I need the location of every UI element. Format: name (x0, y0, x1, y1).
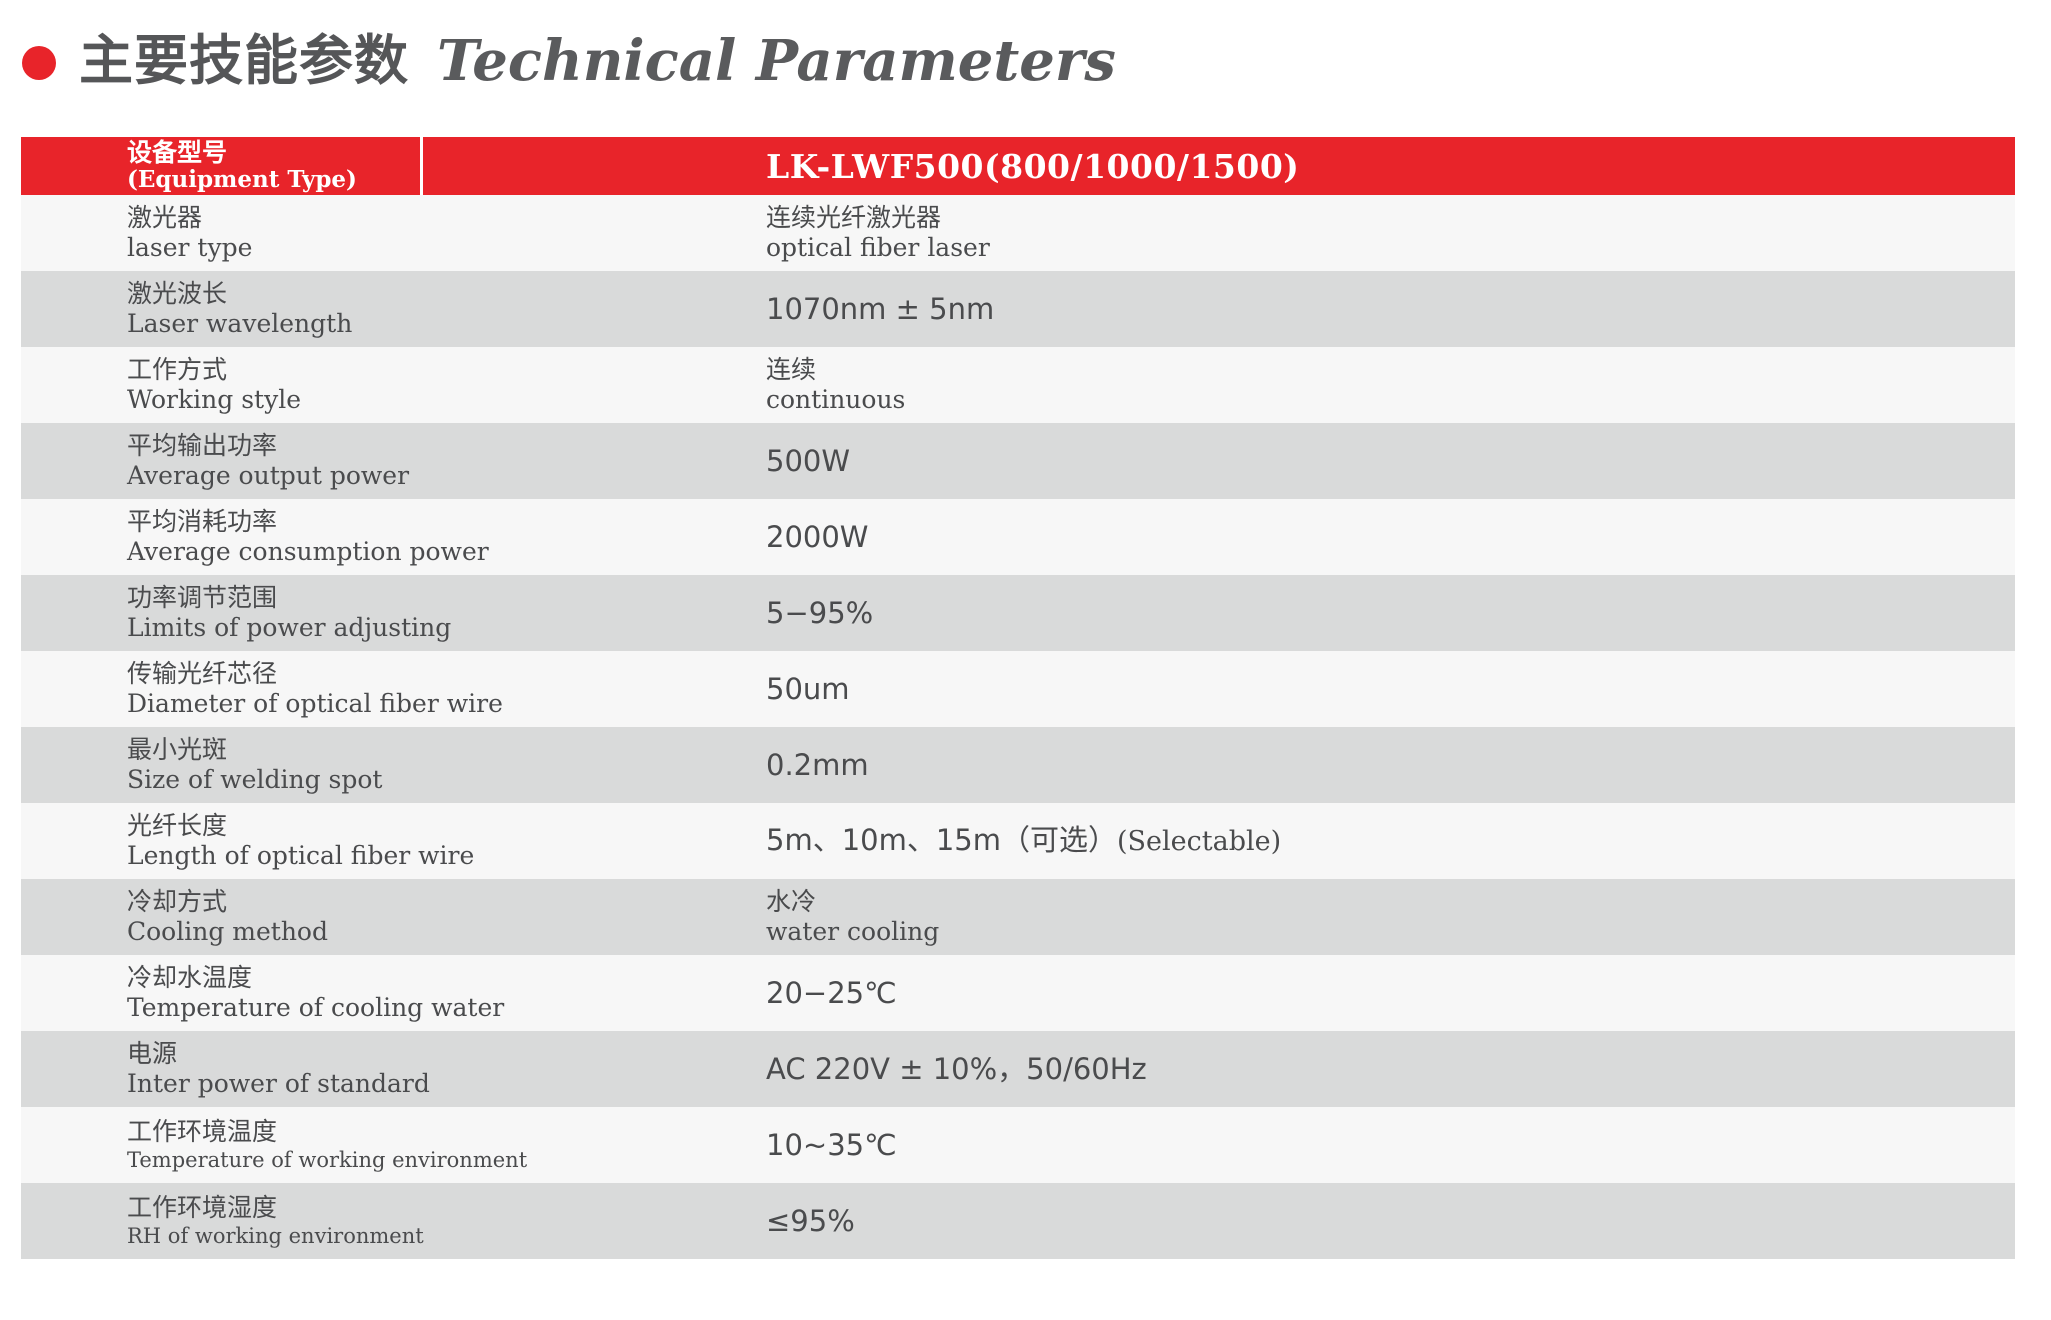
row-value-cell: 20−25℃ (423, 955, 2015, 1031)
row-label-en: Laser wavelength (127, 309, 423, 339)
header-label-cell: 设备型号 (Equipment Type) (21, 137, 423, 195)
header-label-en: (Equipment Type) (127, 167, 420, 193)
row-value-main: 10~35℃ (766, 1128, 897, 1162)
row-value-cn: 连续 (766, 355, 2015, 385)
row-label-cell: 传输光纤芯径Diameter of optical fiber wire (21, 651, 423, 727)
row-value-cell: 5m、10m、15m（可选）(Selectable) (423, 803, 2015, 879)
table-row: 最小光斑Size of welding spot0.2mm (21, 727, 2015, 803)
table-body: 激光器laser type连续光纤激光器optical fiber laser激… (21, 195, 2015, 1259)
row-label-cn: 最小光斑 (127, 735, 423, 765)
row-label-en: Temperature of working environment (127, 1147, 423, 1173)
table-row: 光纤长度Length of optical fiber wire5m、10m、1… (21, 803, 2015, 879)
row-value-en: continuous (766, 385, 2015, 415)
row-value-main: 2000W (766, 520, 868, 554)
table-row: 工作方式Working style连续continuous (21, 347, 2015, 423)
row-label-cell: 电源 Inter power of standard (21, 1031, 423, 1107)
row-label-en: Cooling method (127, 917, 423, 947)
page-title-en: Technical Parameters (437, 33, 1116, 89)
row-value-cn: 连续光纤激光器 (766, 203, 2015, 233)
row-value-main: 1070nm ± 5nm (766, 292, 994, 326)
row-value-en: water cooling (766, 917, 2015, 947)
row-label-cn: 平均消耗功率 (127, 507, 423, 537)
row-value: 500W (766, 444, 2015, 478)
row-label-cell: 冷却方式Cooling method (21, 879, 423, 955)
row-label-cell: 光纤长度Length of optical fiber wire (21, 803, 423, 879)
row-value-main: AC 220V ± 10%，50/60Hz (766, 1052, 1147, 1086)
row-value-cell: AC 220V ± 10%，50/60Hz (423, 1031, 2015, 1107)
row-value-cell: 1070nm ± 5nm (423, 271, 2015, 347)
technical-parameters-table: 设备型号 (Equipment Type) LK-LWF500(800/1000… (21, 137, 2015, 1259)
row-value-cell: 50um (423, 651, 2015, 727)
row-value: 5−95% (766, 596, 2015, 630)
row-value-cell: 连续continuous (423, 347, 2015, 423)
table-row: 工作环境温度Temperature of working environment… (21, 1107, 2015, 1183)
row-label-cn: 功率调节范围 (127, 583, 423, 613)
row-value: 5m、10m、15m（可选）(Selectable) (766, 823, 2015, 859)
row-label-cn: 平均输出功率 (127, 431, 423, 461)
row-label-cn: 冷却水温度 (127, 963, 423, 993)
row-label-cn: 电源 (127, 1039, 423, 1069)
row-value-cell: 5−95% (423, 575, 2015, 651)
row-value: 0.2mm (766, 748, 2015, 782)
row-value: 1070nm ± 5nm (766, 292, 2015, 326)
bullet-icon (22, 46, 56, 80)
row-label-cell: 工作环境湿度RH of working environment (21, 1183, 423, 1259)
row-label-en: Average output power (127, 461, 423, 491)
row-label-en: Temperature of cooling water (127, 993, 423, 1023)
header-model-value: LK-LWF500(800/1000/1500) (766, 147, 2015, 186)
page-title-cn: 主要技能参数 (79, 34, 409, 88)
table-row: 激光器laser type连续光纤激光器optical fiber laser (21, 195, 2015, 271)
row-label-cell: 最小光斑Size of welding spot (21, 727, 423, 803)
row-label-en: laser type (127, 233, 423, 263)
table-row: 平均消耗功率Average consumption power2000W (21, 499, 2015, 575)
row-value-tail: (Selectable) (1117, 826, 1281, 857)
row-value-cn: 水冷 (766, 887, 2015, 917)
row-value-cell: 0.2mm (423, 727, 2015, 803)
row-label-cell: 激光器laser type (21, 195, 423, 271)
table-row: 冷却水温度Temperature of cooling water20−25℃ (21, 955, 2015, 1031)
row-value-en: optical fiber laser (766, 233, 2015, 263)
row-label-cell: 功率调节范围Limits of power adjusting (21, 575, 423, 651)
row-value: AC 220V ± 10%，50/60Hz (766, 1052, 2015, 1086)
header-label-cn: 设备型号 (127, 139, 420, 167)
row-value: 20−25℃ (766, 976, 2015, 1010)
row-label-cell: 平均消耗功率Average consumption power (21, 499, 423, 575)
table-row: 功率调节范围Limits of power adjusting5−95% (21, 575, 2015, 651)
row-value-main: 50um (766, 672, 850, 706)
table-row: 冷却方式Cooling method水冷water cooling (21, 879, 2015, 955)
row-value-main: 20−25℃ (766, 976, 897, 1010)
row-label-en: Working style (127, 385, 423, 415)
row-label-en: Size of welding spot (127, 765, 423, 795)
row-value: 50um (766, 672, 2015, 706)
row-value-main: 0.2mm (766, 748, 869, 782)
row-value: 10~35℃ (766, 1128, 2015, 1162)
row-value-main: 5−95% (766, 596, 873, 630)
row-value-main: ≤95% (766, 1204, 855, 1238)
row-label-cell: 工作环境温度Temperature of working environment (21, 1107, 423, 1183)
row-label-en: RH of working environment (127, 1223, 423, 1249)
row-label-cell: 平均输出功率Average output power (21, 423, 423, 499)
row-label-cell: 冷却水温度Temperature of cooling water (21, 955, 423, 1031)
table-row: 电源 Inter power of standardAC 220V ± 10%，… (21, 1031, 2015, 1107)
row-value-main: 5m、10m、15m（可选） (766, 823, 1117, 857)
row-value-cell: 10~35℃ (423, 1107, 2015, 1183)
row-label-cn: 光纤长度 (127, 811, 423, 841)
row-label-cn: 激光器 (127, 203, 423, 233)
header-model-cell: LK-LWF500(800/1000/1500) (423, 137, 2015, 195)
table-row: 平均输出功率Average output power500W (21, 423, 2015, 499)
row-label-cell: 激光波长Laser wavelength (21, 271, 423, 347)
table-header-row: 设备型号 (Equipment Type) LK-LWF500(800/1000… (21, 137, 2015, 195)
row-label-cn: 冷却方式 (127, 887, 423, 917)
row-value-cell: 连续光纤激光器optical fiber laser (423, 195, 2015, 271)
table-row: 激光波长Laser wavelength1070nm ± 5nm (21, 271, 2015, 347)
row-label-cn: 传输光纤芯径 (127, 659, 423, 689)
row-label-cn: 工作环境温度 (127, 1117, 423, 1147)
row-label-cn: 工作环境湿度 (127, 1193, 423, 1223)
row-label-cell: 工作方式Working style (21, 347, 423, 423)
row-label-en: Inter power of standard (127, 1069, 423, 1099)
row-label-cn: 工作方式 (127, 355, 423, 385)
row-value-cell: ≤95% (423, 1183, 2015, 1259)
table-row: 传输光纤芯径Diameter of optical fiber wire50um (21, 651, 2015, 727)
row-value-cell: 500W (423, 423, 2015, 499)
row-label-en: Average consumption power (127, 537, 423, 567)
page-title-bar: 主要技能参数 Technical Parameters (0, 0, 2051, 122)
row-label-cn: 激光波长 (127, 279, 423, 309)
row-value: 2000W (766, 520, 2015, 554)
row-value-main: 500W (766, 444, 850, 478)
row-value-cell: 水冷water cooling (423, 879, 2015, 955)
row-label-en: Limits of power adjusting (127, 613, 423, 643)
row-label-en: Diameter of optical fiber wire (127, 689, 423, 719)
row-value: ≤95% (766, 1204, 2015, 1238)
row-label-en: Length of optical fiber wire (127, 841, 423, 871)
row-value-cell: 2000W (423, 499, 2015, 575)
table-row: 工作环境湿度RH of working environment≤95% (21, 1183, 2015, 1259)
